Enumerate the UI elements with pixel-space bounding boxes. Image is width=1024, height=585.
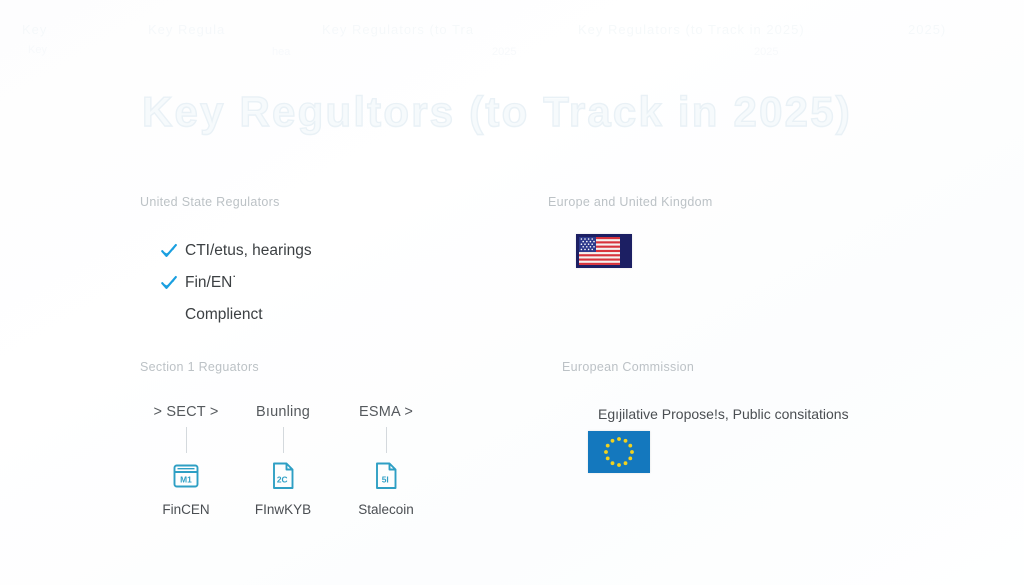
section-heading-section1-regulators: Section 1 Reguators (140, 360, 259, 374)
regulator-top-label: > SECT > (131, 404, 241, 420)
eu-flag-container (588, 431, 650, 473)
regulator-column-finwkyb[interactable]: Bıunling 2C FInwKYB (228, 404, 338, 517)
ghost-text-low-2: hea (272, 46, 290, 58)
ghost-text-low-1: Key (28, 44, 47, 56)
document-icon-graphic: 2C (268, 460, 298, 492)
page-title: Key Regultors (to Track in 2025) (142, 88, 852, 136)
list-item[interactable]: Fin/EN˙ (160, 268, 312, 298)
section-heading-us-regulators: United State Regulators (140, 195, 280, 209)
connector-line (186, 427, 187, 453)
us-flag-container (576, 234, 632, 268)
regulator-caption: FInwKYB (228, 502, 338, 517)
list-item-label: Fin/EN˙ (185, 274, 238, 292)
window-chart-icon-graphic: M1 (171, 461, 201, 491)
svg-text:M1: M1 (180, 474, 192, 484)
regulator-column-fincen[interactable]: > SECT > M1 FinCEN (131, 404, 241, 517)
ghost-text-2: Key Regula (148, 22, 225, 37)
eu-flag-icon (588, 431, 650, 473)
us-flag-graphic (579, 237, 620, 265)
window-chart-icon[interactable]: M1 (131, 459, 241, 493)
ghost-text-low-3: 2025 (492, 46, 516, 58)
connector-line (283, 427, 284, 453)
us-flag-icon (576, 234, 632, 268)
list-item[interactable]: Complienct (160, 300, 312, 330)
ghost-text-low-4: 2025 (754, 46, 778, 58)
ghost-text-5: 2025) (908, 22, 946, 37)
regulator-caption: FinCEN (131, 502, 241, 517)
regulator-caption: Stalecoin (331, 502, 441, 517)
check-icon (160, 274, 178, 292)
ghost-text-4: Key Regulators (to Track in 2025) (578, 22, 805, 37)
list-item-label: CTI/etus, hearings (185, 242, 312, 260)
ghost-text-1: Key (22, 22, 47, 37)
connector-line (386, 427, 387, 453)
list-item[interactable]: CTI/etus, hearings (160, 236, 312, 266)
document-icon[interactable]: 2C (228, 459, 338, 493)
eu-flag-graphic (588, 431, 650, 473)
svg-text:2C: 2C (277, 475, 288, 485)
document-icon-graphic: 5I (371, 460, 401, 492)
us-regulators-list: CTI/etus, hearings Fin/EN˙ Complienct (160, 236, 312, 332)
check-icon (160, 242, 178, 260)
list-item-label: Complienct (185, 306, 263, 324)
document-icon[interactable]: 5I (331, 459, 441, 493)
regulator-top-label: Bıunling (228, 404, 338, 420)
european-commission-note: Egıjilative Propose!s, Public consitatio… (598, 406, 849, 422)
regulator-column-stalecoin[interactable]: ESMA > 5I Stalecoin (331, 404, 441, 517)
svg-text:5I: 5I (382, 475, 389, 485)
slide-canvas: Key Key Regula Key Regulators (to Tra Ke… (0, 0, 1024, 585)
ghost-text-3: Key Regulators (to Tra (322, 22, 474, 37)
section-heading-europe-uk: Europe and United Kingdom (548, 195, 713, 209)
regulator-top-label: ESMA > (331, 404, 441, 420)
section-heading-european-commission: European Commission (562, 360, 694, 374)
